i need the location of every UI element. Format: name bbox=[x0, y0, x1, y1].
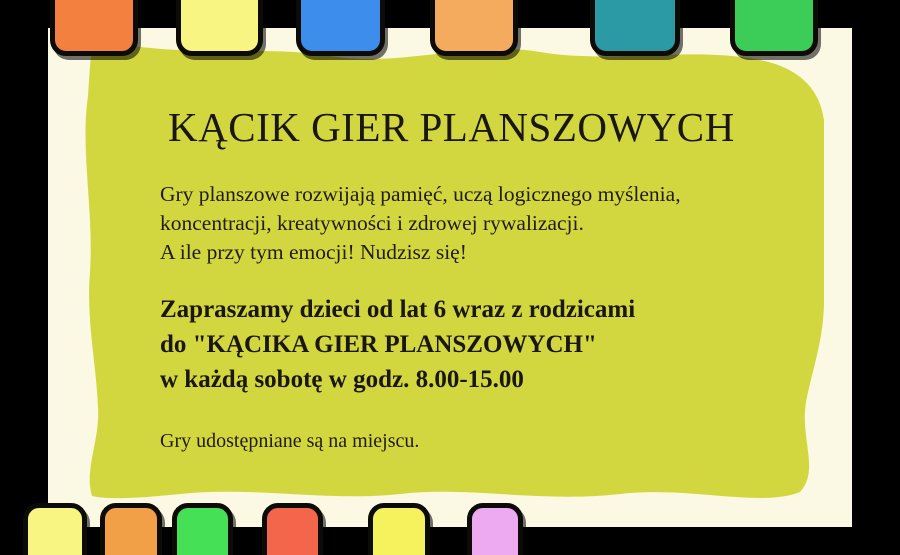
text-line: w każdą sobotę w godz. 8.00-15.00 bbox=[160, 362, 810, 397]
intro-paragraph: Gry planszowe rozwijają pamięć, uczą log… bbox=[160, 180, 800, 267]
page-title: KĄCIK GIER PLANSZOWYCH bbox=[168, 103, 735, 151]
text-line: Gry udostępniane są na miejscu. bbox=[160, 428, 780, 455]
footer-paragraph: Gry udostępniane są na miejscu. bbox=[160, 428, 780, 455]
text-line: Zapraszamy dzieci od lat 6 wraz z rodzic… bbox=[160, 292, 810, 327]
text-line: Gry planszowe rozwijają pamięć, uczą log… bbox=[160, 180, 800, 209]
text-line: do "KĄCIKA GIER PLANSZOWYCH" bbox=[160, 327, 810, 362]
invitation-paragraph: Zapraszamy dzieci od lat 6 wraz z rodzic… bbox=[160, 292, 810, 397]
text-line: koncentracji, kreatywności i zdrowej ryw… bbox=[160, 209, 800, 238]
poster-canvas: KĄCIK GIER PLANSZOWYCH Gry planszowe roz… bbox=[0, 0, 900, 555]
text-line: A ile przy tym emocji! Nudzisz się! bbox=[160, 238, 800, 267]
poster-content: KĄCIK GIER PLANSZOWYCH Gry planszowe roz… bbox=[0, 0, 900, 555]
